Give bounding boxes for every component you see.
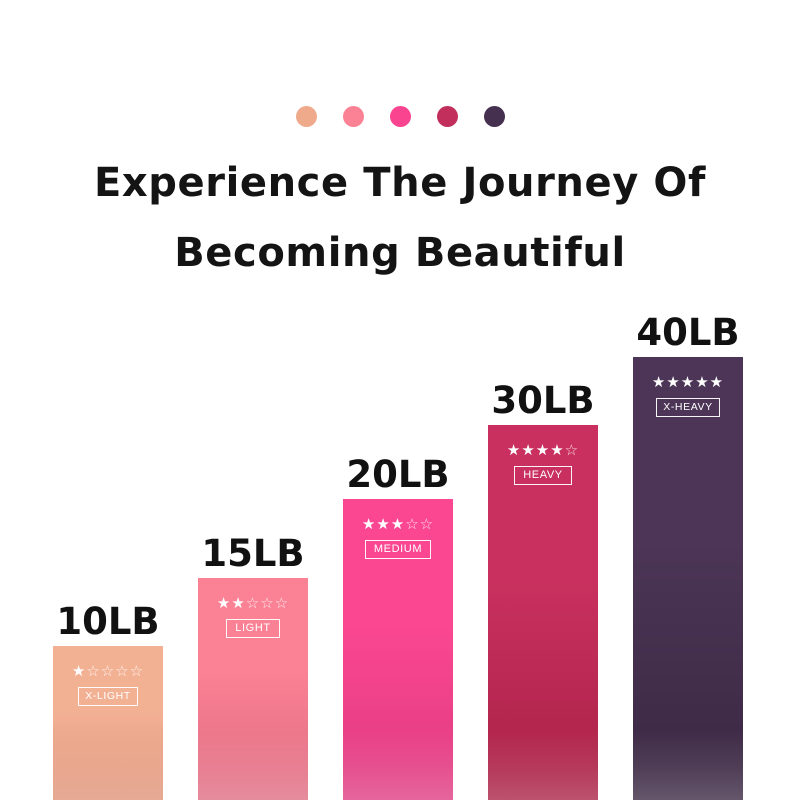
bar-rect[interactable]: ★☆☆☆☆X-LIGHT: [53, 646, 163, 800]
page-title: Experience The Journey Of Becoming Beaut…: [0, 148, 800, 288]
level-badge: LIGHT: [226, 619, 279, 638]
dot-medium: [390, 106, 411, 127]
bar-value-label: 30LB: [491, 382, 594, 419]
bar-column[interactable]: 10LB★☆☆☆☆X-LIGHT: [53, 646, 163, 800]
star-filled-icon: ★: [521, 441, 535, 459]
star-rating: ★★☆☆☆: [217, 596, 289, 611]
bar-value-label: 15LB: [201, 535, 304, 572]
star-rating: ★★★☆☆: [362, 517, 434, 532]
level-badge: X-HEAVY: [656, 398, 720, 417]
bar-badge-group: ★★★★☆HEAVY: [488, 443, 598, 485]
bar-badge-group: ★★★☆☆MEDIUM: [343, 517, 453, 559]
bar-column[interactable]: 15LB★★☆☆☆LIGHT: [198, 578, 308, 800]
bar-column[interactable]: 20LB★★★☆☆MEDIUM: [343, 499, 453, 800]
star-filled-icon: ★: [695, 373, 709, 391]
dot-heavy: [437, 106, 458, 127]
star-filled-icon: ★: [376, 515, 390, 533]
bar-badge-group: ★★★★★X-HEAVY: [633, 375, 743, 417]
star-rating: ★☆☆☆☆: [72, 664, 144, 679]
star-filled-icon: ★: [72, 662, 86, 680]
headline-line-1: Experience The Journey Of: [0, 148, 800, 218]
product-infographic: Experience The Journey Of Becoming Beaut…: [0, 0, 800, 800]
bar-value-label: 10LB: [56, 603, 159, 640]
headline-line-2: Becoming Beautiful: [0, 218, 800, 288]
level-badge: X-LIGHT: [78, 687, 138, 706]
star-filled-icon: ★: [362, 515, 376, 533]
dot-x-light: [296, 106, 317, 127]
bar-rect[interactable]: ★★☆☆☆LIGHT: [198, 578, 308, 800]
bar-value-label: 40LB: [636, 314, 739, 351]
bar-rect[interactable]: ★★★★☆HEAVY: [488, 425, 598, 800]
star-empty-icon: ☆: [565, 441, 579, 459]
bar-rect[interactable]: ★★★★★X-HEAVY: [633, 357, 743, 800]
color-swatch-dot-row: [0, 106, 800, 127]
star-empty-icon: ☆: [130, 662, 144, 680]
star-empty-icon: ☆: [405, 515, 419, 533]
star-empty-icon: ☆: [101, 662, 115, 680]
star-filled-icon: ★: [231, 594, 245, 612]
level-badge: MEDIUM: [365, 540, 431, 559]
star-rating: ★★★★☆: [507, 443, 579, 458]
dot-x-heavy: [484, 106, 505, 127]
bar-column[interactable]: 30LB★★★★☆HEAVY: [488, 425, 598, 800]
star-empty-icon: ☆: [260, 594, 274, 612]
star-filled-icon: ★: [217, 594, 231, 612]
star-empty-icon: ☆: [115, 662, 129, 680]
star-empty-icon: ☆: [246, 594, 260, 612]
resistance-bar-chart: 10LB★☆☆☆☆X-LIGHT15LB★★☆☆☆LIGHT20LB★★★☆☆M…: [0, 280, 800, 800]
level-badge: HEAVY: [514, 466, 571, 485]
star-filled-icon: ★: [681, 373, 695, 391]
bar-badge-group: ★★☆☆☆LIGHT: [198, 596, 308, 638]
bar-badge-group: ★☆☆☆☆X-LIGHT: [53, 664, 163, 706]
star-filled-icon: ★: [666, 373, 680, 391]
star-empty-icon: ☆: [420, 515, 434, 533]
dot-light: [343, 106, 364, 127]
star-rating: ★★★★★: [652, 375, 724, 390]
star-filled-icon: ★: [536, 441, 550, 459]
star-filled-icon: ★: [507, 441, 521, 459]
bar-value-label: 20LB: [346, 456, 449, 493]
star-filled-icon: ★: [391, 515, 405, 533]
bar-column[interactable]: 40LB★★★★★X-HEAVY: [633, 357, 743, 800]
star-filled-icon: ★: [550, 441, 564, 459]
star-filled-icon: ★: [652, 373, 666, 391]
bar-rect[interactable]: ★★★☆☆MEDIUM: [343, 499, 453, 800]
star-empty-icon: ☆: [86, 662, 100, 680]
star-filled-icon: ★: [710, 373, 724, 391]
star-empty-icon: ☆: [275, 594, 289, 612]
